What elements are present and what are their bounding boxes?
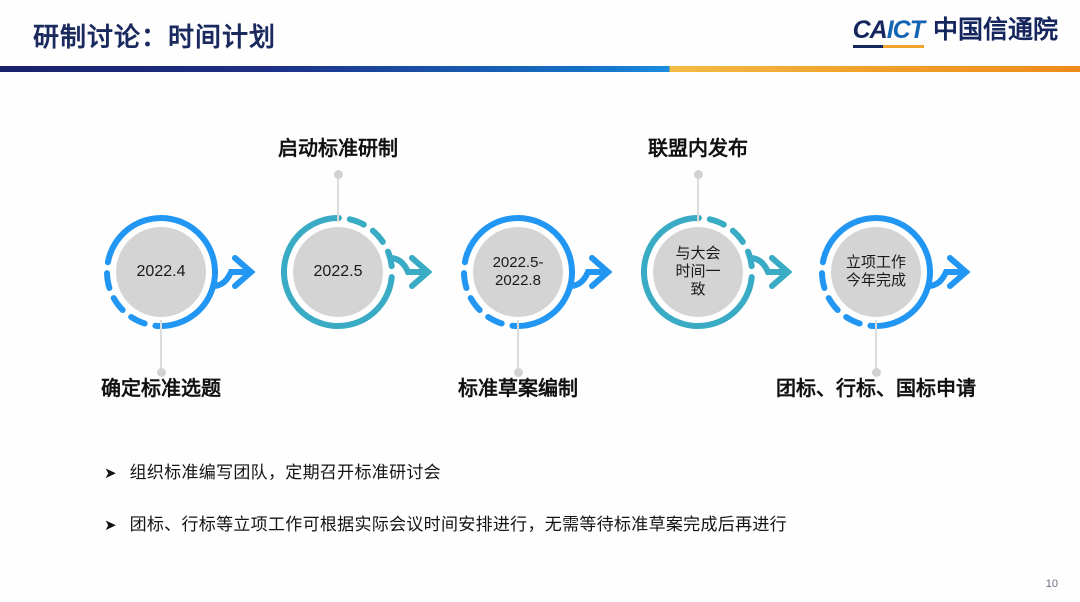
bullet-item: ➤团标、行标等立项工作可根据实际会议时间安排进行，无需等待标准草案完成后再进行: [0, 514, 1080, 536]
timeline-node-caption: 联盟内发布: [648, 132, 748, 161]
bullet-list: ➤组织标准编写团队，定期召开标准研讨会➤团标、行标等立项工作可根据实际会议时间安…: [0, 462, 1080, 566]
timeline-node-disc: [293, 227, 383, 317]
logo-wordmark: CAICT: [853, 18, 924, 48]
caict-logo: CAICT 中国信通院: [853, 18, 1058, 48]
header-divider-bar: [0, 66, 1080, 72]
timeline-node-caption: 确定标准选题: [101, 372, 221, 401]
timeline-node-stem: [517, 320, 519, 370]
bullet-text: 组织标准编写团队，定期召开标准研讨会: [130, 462, 441, 484]
bullet-arrow-icon: ➤: [104, 462, 117, 483]
logo-underline: [853, 45, 924, 48]
slide-header: 研制讨论：时间计划 CAICT 中国信通院: [0, 0, 1080, 72]
logo-chinese-name: 中国信通院: [933, 18, 1058, 48]
bullet-item: ➤组织标准编写团队，定期召开标准研讨会: [0, 462, 1080, 484]
timeline-diagram: 2022.4确定标准选题 2022.5启动标准研制 2022.5-2022.8标…: [0, 90, 1080, 420]
timeline-node-stem-dot: [334, 170, 343, 179]
timeline-node-caption: 启动标准研制: [278, 132, 398, 161]
timeline-node-stem: [875, 320, 877, 370]
timeline-node-ring: [782, 178, 1010, 366]
bullet-text: 团标、行标等立项工作可根据实际会议时间安排进行，无需等待标准草案完成后再进行: [130, 514, 787, 536]
timeline-node-disc: [653, 227, 743, 317]
timeline-node-caption: 标准草案编制: [458, 372, 578, 401]
timeline-node-disc: [831, 227, 921, 317]
timeline-node-stem-dot: [694, 170, 703, 179]
logo-mark-a: CA: [853, 16, 887, 44]
timeline-node-stem: [697, 174, 699, 222]
logo-mark-b: ICT: [887, 16, 924, 44]
bullet-arrow-icon: ➤: [104, 514, 117, 535]
slide: 研制讨论：时间计划 CAICT 中国信通院 2022.4确定标准选题 2022.…: [0, 0, 1080, 602]
page-title: 研制讨论：时间计划: [33, 17, 276, 54]
timeline-node-caption: 团标、行标、国标申请: [776, 372, 976, 401]
timeline-node-stem: [160, 320, 162, 370]
timeline-node-disc: [116, 227, 206, 317]
timeline-node-stem: [337, 174, 339, 222]
timeline-node-5[interactable]: 立项工作今年完成: [782, 178, 1010, 366]
page-number: 10: [1046, 578, 1058, 590]
timeline-node-disc: [473, 227, 563, 317]
